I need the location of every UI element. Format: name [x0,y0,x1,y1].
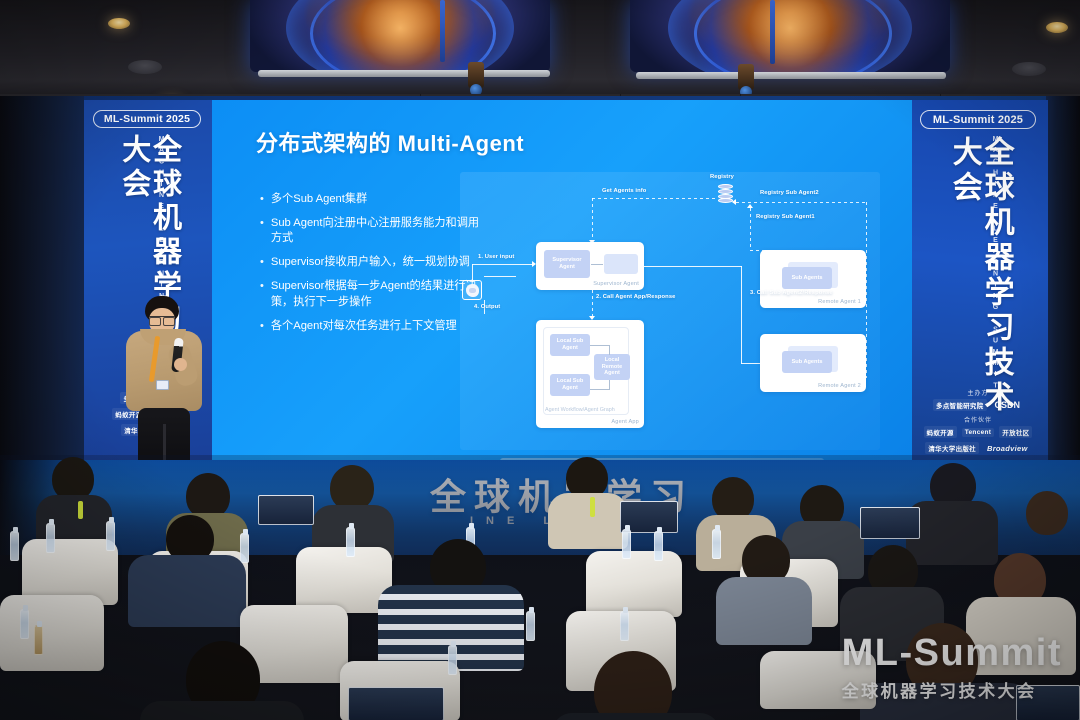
slide-bullet: • Supervisor根据每一步Agent的结果进行决策，执行下一步操作 [260,279,480,309]
call-agent-app-line [592,290,593,318]
audience-laptop [1016,685,1080,720]
audience-torso-striped [128,555,246,627]
slide-title: 分布式架构的 Multi-Agent [256,126,524,158]
ceiling-decor-panel-right [630,0,950,72]
get-agents-info-label: Get Agents info [602,188,646,194]
slide-bullet: • 多个Sub Agent集群 [260,192,480,207]
supervisor-agent-box: Supervisor Agent Supervisor Agent [536,242,644,290]
water-bottle [346,527,355,557]
agent-graph-link-top-v [609,345,610,355]
remote-agent-2-chip: Sub Agents [782,351,832,373]
banner-right-badge: ML-Summit 2025 [920,110,1036,129]
audience-laptop [258,495,314,525]
registry-sub-agent2-label: Registry Sub Agent2 [760,190,819,196]
slide-bullet: • 各个Agent对每次任务进行上下文管理 [260,319,480,334]
audience-torso [140,701,304,720]
water-bottle [622,529,631,559]
registry-sub-agent1-arrow [747,204,753,208]
agent-app-caption: Agent App [611,419,639,425]
bullet-text: Supervisor根据每一步Agent的结果进行决策，执行下一步操作 [271,279,480,309]
slide-bullet-list: • 多个Sub Agent集群 • Sub Agent向注册中心注册服务能力和调… [260,192,480,343]
partner-logo-community: 开放社区 [999,426,1032,438]
audience-head [1026,491,1068,535]
ceiling-truss-right [770,0,775,64]
registry-sub-agent2-line-v [866,202,867,378]
partner-logo-tencent: Tencent [962,428,995,437]
partner-logo-ant: 蚂蚁开源 [924,426,957,438]
ceiling-camera-left [468,62,484,88]
remote-agent-1-box: Sub Agents Remote Agent 1 [760,250,866,308]
audience-chair [586,551,682,617]
registry-database-icon [718,184,733,204]
audience-chair [760,651,876,709]
remote-agent-2-caption: Remote Agent 2 [818,383,861,389]
water-bottle [240,533,249,563]
ceiling-spotlight [1046,22,1068,33]
architecture-diagram: Registry Get Agents info Registry Sub Ag… [460,172,880,450]
organizer-logo-row: 多点智能研究院 CSDN [908,399,1048,411]
audience-lanyard [590,497,595,517]
ceiling-lamp-housing [128,60,162,74]
bullet-text: 各个Agent对每次任务进行上下文管理 [271,319,457,334]
audience-torso [716,577,812,645]
audience-laptop [348,687,444,720]
ceiling-decor-panel-left [250,0,550,72]
bullet-marker: • [260,319,264,334]
speaker-badge [156,380,169,390]
organizer-logo-csdn: CSDN [992,399,1024,411]
audience-lanyard [78,501,83,519]
registry-sub-agent1-line-v [750,208,751,250]
audience-torso [860,683,1030,720]
conference-photo: ML-Summit 2025 全球机器学习技术大会 MACHINE LEARNI… [0,0,1080,720]
output-line-h [484,276,516,277]
audience-torso [966,597,1076,675]
bullet-text: 多个Sub Agent集群 [271,192,367,207]
user-input-arrow [532,261,536,267]
organizer-logo-ddzn: 多点智能研究院 [933,399,987,411]
water-bottle [20,609,29,639]
supervisor-agent-chip: Supervisor Agent [544,250,590,278]
water-bottle [620,611,629,641]
partner-logo-row-1: 蚂蚁开源 Tencent 开放社区 [908,426,1048,438]
ceiling-bar-right [636,72,946,79]
banner-right-title-en: MACHINE LEARNING SUMMIT [992,136,999,416]
water-bottle [106,521,115,551]
supervisor-to-remote-line [644,266,742,267]
user-input-line-h [472,264,534,265]
bullet-text: Sub Agent向注册中心注册服务能力和调用方式 [271,216,480,246]
speaker-hand [174,358,187,371]
partner-label: 合作伙伴 [908,415,1048,424]
ceiling-bar-left [258,70,550,77]
ceiling-spotlight [108,18,130,29]
user-head-icon [462,280,482,300]
water-bottle [526,611,535,641]
partner-logo-row-2: 清华大学出版社 Broadview [908,442,1048,454]
ceiling-truss-left [440,0,445,62]
audience-torso [552,713,720,720]
output-label: 4. Output [474,304,500,310]
supervisor-internal-link [591,264,603,265]
water-bottle [46,523,55,553]
agent-graph-caption: Agent Workflow/Agent Graph [545,407,615,413]
get-agents-info-line-v [592,198,593,242]
local-sub-agent-1-chip: Local Sub Agent [550,334,590,356]
audience-chair [0,595,104,671]
partner-logo-tsinghua: 清华大学出版社 [925,442,979,454]
water-bottle-amber [34,625,43,655]
registry-sub-agent2-line [736,202,866,203]
ceiling [0,0,1080,100]
remote-agent-1-chip: Sub Agents [782,267,832,289]
supervisor-secondary-chip [604,254,638,274]
slide-bullet: • Sub Agent向注册中心注册服务能力和调用方式 [260,216,480,246]
call-agent-app-label: 2. Call Agent App/Response [596,294,675,300]
remote-agent-1-caption: Remote Agent 1 [818,299,861,305]
water-bottle [712,529,721,559]
banner-left-badge: ML-Summit 2025 [93,110,201,128]
registry-label: Registry [710,174,734,180]
supervisor-bus-v [741,266,742,364]
water-bottle [448,645,457,675]
local-remote-agent-chip: Local Remote Agent [594,354,630,380]
bullet-marker: • [260,255,264,270]
audience-seating [0,455,1080,720]
banner-right: ML-Summit 2025 全球机器学习技术大会 MACHINE LEARNI… [908,100,1048,460]
registry-sub-agent2-arrow [732,199,736,205]
stage-left-shadow [0,96,84,476]
remote-agent-2-box: Sub Agents Remote Agent 2 [760,334,866,392]
agent-app-box: Local Sub Agent Local Sub Agent Local Re… [536,320,644,428]
supervisor-agent-caption: Supervisor Agent [593,281,639,287]
agent-graph-link-bottom [590,389,610,390]
bullet-marker: • [260,216,264,246]
organizer-label: 主办方 [908,388,1048,397]
stage-right-shadow [1046,96,1080,476]
audience-torso [548,493,628,549]
registry-sub-agent1-label: Registry Sub Agent1 [756,214,815,220]
water-bottle [10,531,19,561]
local-sub-agent-2-chip: Local Sub Agent [550,374,590,396]
ceiling-lamp-housing [1012,62,1046,76]
slide-bullet: • Supervisor接收用户输入，统一规划协调 [260,255,480,270]
water-bottle [654,531,663,561]
get-agents-info-line [592,198,718,199]
projected-slide: 分布式架构的 Multi-Agent • 多个Sub Agent集群 • Sub… [212,100,912,462]
call-sub-agent2-label: 3. Call Sub Agent2/Response [750,290,833,296]
bullet-text: Supervisor接收用户输入，统一规划协调 [271,255,470,270]
user-input-line-v [472,264,473,282]
banner-right-organizers: 主办方 多点智能研究院 CSDN 合作伙伴 蚂蚁开源 Tencent 开放社区 … [908,388,1048,458]
user-input-label: 1. User input [478,254,514,260]
speaker-glasses [149,316,175,323]
audience-laptop [860,507,920,539]
bullet-marker: • [260,279,264,309]
ceiling-camera-right [738,64,754,90]
speaker-presenter [118,296,210,472]
agent-graph-link-top [590,345,610,346]
partner-logo-broadview: Broadview [984,443,1031,454]
bullet-marker: • [260,192,264,207]
